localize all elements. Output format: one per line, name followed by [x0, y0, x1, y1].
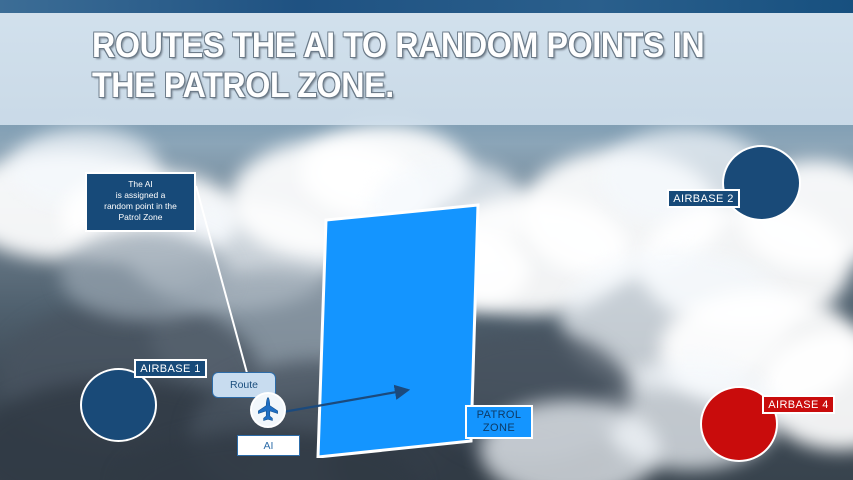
- airbase-2-label[interactable]: AIRBASE 2: [667, 189, 740, 208]
- airbase-1-circle[interactable]: [80, 368, 157, 442]
- callout-line-1: The AI: [87, 179, 194, 190]
- patrol-zone-polygon: [318, 205, 478, 457]
- airbase-1-label[interactable]: AIRBASE 1: [134, 359, 207, 378]
- top-accent-strip: [0, 0, 853, 13]
- patrol-zone-label-line1: PATROL: [477, 409, 522, 422]
- fighter-jet-icon[interactable]: [250, 392, 286, 428]
- callout-line-4: Patrol Zone: [87, 212, 194, 223]
- callout-line-2: is assigned a: [87, 190, 194, 201]
- patrol-zone-label[interactable]: PATROL ZONE: [465, 405, 533, 439]
- patrol-zone-label-line2: ZONE: [483, 422, 515, 435]
- callout-line-3: random point in the: [87, 201, 194, 212]
- page-title: ROUTES THE AI TO RANDOM POINTS IN THE PA…: [92, 26, 736, 106]
- ai-label[interactable]: AI: [237, 435, 300, 456]
- patrol-zone-shape: [315, 198, 485, 458]
- callout-box[interactable]: The AI is assigned a random point in the…: [85, 172, 196, 232]
- airbase-2-circle[interactable]: [722, 145, 801, 221]
- slide-canvas: ROUTES THE AI TO RANDOM POINTS IN THE PA…: [0, 0, 853, 480]
- airbase-4-label[interactable]: AIRBASE 4: [762, 395, 835, 414]
